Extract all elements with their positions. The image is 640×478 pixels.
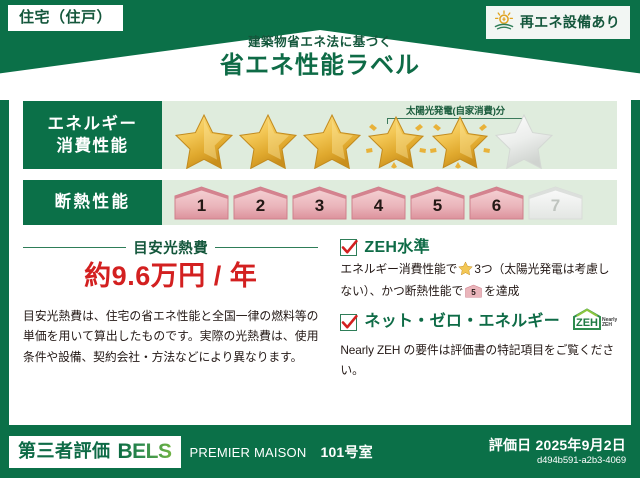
main-card: エネルギー 消費性能 太陽光発電(自家消費)分 [9, 88, 631, 425]
svg-text:ZEH: ZEH [576, 317, 598, 329]
utility-cost-column: 目安光熱費 約9.6万円 / 年 目安光熱費は、住宅の省エネ性能と全国一律の燃料… [23, 237, 326, 383]
energy-performance-row: エネルギー 消費性能 太陽光発電(自家消費)分 [23, 88, 617, 169]
footer-right: 評価日 2025年9月2日 d494b591-a2b3-4069 [489, 437, 640, 465]
insulation-level-number: 2 [232, 197, 289, 214]
zeh-column: ZEH水準 エネルギー消費性能で3つ（太陽光発電は考慮しない）、かつ断熱性能で5… [326, 237, 617, 383]
insulation-level-number: 3 [291, 197, 348, 214]
insulation-level-number: 5 [409, 197, 466, 214]
svg-text:5: 5 [471, 288, 476, 297]
property-name: PREMIER MAISON [190, 445, 307, 460]
svg-text:ZEH: ZEH [602, 322, 612, 328]
insulation-level-number: 4 [350, 197, 407, 214]
zeh-standard-description: エネルギー消費性能で3つ（太陽光発電は考慮しない）、かつ断熱性能で5を達成 [340, 259, 617, 305]
utility-cost-description: 目安光熱費は、住宅の省エネ性能と全国一律の燃料等の単価を用いて算出したものです。… [23, 306, 318, 368]
energy-performance-label-key: エネルギー 消費性能 [23, 101, 162, 169]
renewable-energy-badge: 再エネ設備あり [486, 6, 630, 39]
zeh-standard-title: ZEH水準 [364, 240, 430, 256]
net-zero-energy-description: Nearly ZEH の要件は評価書の特記項目をご覧ください。 [340, 340, 617, 381]
third-party-label: 第三者評価 [18, 442, 111, 460]
building-type-tag: 住宅（住戸） [8, 5, 123, 31]
bels-certification-mark: 第三者評価 BELS [9, 436, 181, 468]
property-info: PREMIER MAISON101号室 [190, 442, 373, 462]
star-icon-filled [173, 111, 235, 169]
utility-cost-title: 目安光熱費 [133, 237, 208, 258]
row-spacer [9, 169, 631, 180]
insulation-performance-value: 1 2 3 [162, 180, 617, 225]
star-icon-filled [237, 111, 299, 169]
title-subtitle: 建築物省エネ法に基づく [0, 36, 640, 50]
footer: 第三者評価 BELS PREMIER MAISON101号室 評価日 2025年… [0, 425, 640, 478]
star-icon-empty [493, 111, 555, 169]
star-rating [162, 101, 555, 169]
insulation-scale: 1 2 3 [162, 180, 584, 225]
zeh-desc-part1: エネルギー消費性能で [340, 262, 457, 276]
insulation-level-number: 6 [468, 197, 525, 214]
evaluation-date: 評価日 2025年9月2日 [489, 437, 626, 454]
zeh-house-logo-icon: ZEH Nearly ZEH [571, 308, 617, 337]
room-number: 101号室 [320, 444, 372, 460]
energy-key-line1: エネルギー [48, 113, 138, 135]
net-zero-energy-title: ネット・ゼロ・エネルギー [364, 314, 560, 330]
insulation-level-box: 2 [232, 185, 289, 221]
energy-performance-label: 住宅（住戸） 再エネ設備あり [0, 0, 640, 478]
star-icon-inline [458, 264, 473, 278]
bels-logo: BELS [118, 441, 172, 462]
net-zero-energy-item: ネット・ゼロ・エネルギー ZEH Nearly ZEH Nearly ZEH の… [340, 308, 617, 381]
body-columns: 目安光熱費 約9.6万円 / 年 目安光熱費は、住宅の省エネ性能と全国一律の燃料… [23, 237, 617, 383]
rule-left [23, 247, 126, 248]
header: 住宅（住戸） 再エネ設備あり [0, 0, 640, 100]
insulation-level-number: 7 [527, 197, 584, 214]
rule-right [215, 247, 318, 248]
renewable-badge-label: 再エネ設備あり [520, 15, 620, 29]
insulation-level-badge-inline: 5 [465, 284, 482, 304]
page-title: 省エネ性能ラベル [0, 52, 640, 80]
insulation-level-box: 1 [173, 185, 230, 221]
checkbox-checked[interactable] [340, 314, 357, 331]
insulation-level-box: 5 [409, 185, 466, 221]
insulation-level-box: 4 [350, 185, 407, 221]
insulation-performance-label-key: 断熱性能 [23, 180, 162, 225]
sun-icon [493, 10, 515, 34]
title-block: 建築物省エネ法に基づく 省エネ性能ラベル [0, 36, 640, 79]
insulation-performance-row: 断熱性能 [23, 180, 617, 225]
insulation-level-box: 3 [291, 185, 348, 221]
zeh-desc-part3: を達成 [484, 284, 519, 298]
energy-performance-value: 太陽光発電(自家消費)分 [162, 101, 617, 169]
utility-cost-value: 約9.6万円 / 年 [23, 260, 318, 294]
energy-key-line2: 消費性能 [57, 135, 129, 157]
zeh-standard-item: ZEH水準 エネルギー消費性能で3つ（太陽光発電は考慮しない）、かつ断熱性能で5… [340, 239, 617, 305]
star-icon-filled [301, 111, 363, 169]
evaluation-id: d494b591-a2b3-4069 [489, 456, 626, 466]
utility-cost-header: 目安光熱費 [23, 237, 318, 258]
zeh-standard-header: ZEH水準 [340, 239, 617, 256]
checkbox-checked[interactable] [340, 239, 357, 256]
star-icon-filled-solar [429, 111, 491, 169]
insulation-level-box-empty: 7 [527, 185, 584, 221]
star-icon-filled-solar [365, 111, 427, 169]
insulation-level-box: 6 [468, 185, 525, 221]
insulation-level-number: 1 [173, 197, 230, 214]
net-zero-energy-header: ネット・ゼロ・エネルギー ZEH Nearly ZEH [340, 308, 617, 337]
footer-left: 第三者評価 BELS PREMIER MAISON101号室 [0, 436, 373, 468]
